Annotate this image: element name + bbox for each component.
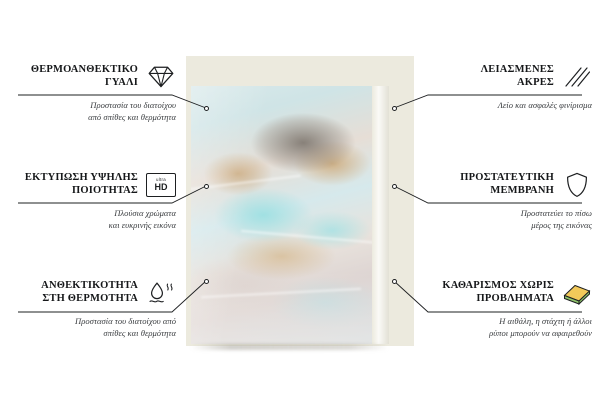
feature-heat-resistant-glass: ΘΕΡΜΟΑΝΘΕΚΤΙΚΟ ΓΥΑΛΙ Προστασία του διατο… <box>8 62 176 124</box>
feature-polished-edges: ΛΕΙΑΣΜΕΝΕΣ ΑΚΡΕΣ Λείο και ασφαλές φινίρι… <box>424 62 592 111</box>
feature-desc-line1: Λείο και ασφαλές φινίρισμα <box>424 99 592 111</box>
feature-desc-line1: Προστασία του διατοίχου από <box>8 315 176 327</box>
connector-dot <box>392 279 397 284</box>
feature-title-line2: ΜΕΜΒΡΑΝΗ <box>460 185 554 198</box>
diagonal-lines-icon <box>562 62 592 92</box>
feature-desc-line1: Πλούσια χρώματα <box>8 207 176 219</box>
connector-dot <box>392 106 397 111</box>
feature-title-line2: ΑΚΡΕΣ <box>481 77 554 90</box>
feature-title-line1: ΠΡΟΣΤΑΤΕΥΤΙΚΗ <box>460 172 554 185</box>
connector-dot <box>204 106 209 111</box>
glass-edge <box>372 86 389 344</box>
feature-easy-cleaning: ΚΑΘΑΡΙΣΜΟΣ ΧΩΡΙΣ ΠΡΟΒΛΗΜΑΤΑ Η αιθάλη, η … <box>418 278 592 340</box>
feature-high-quality-print: ΕΚΤΥΠΩΣΗ ΥΨΗΛΗΣ ΠΟΙΟΤΗΤΑΣ ultra HD Πλούσ… <box>8 170 176 232</box>
connector-dot <box>204 279 209 284</box>
connector-dot <box>392 184 397 189</box>
feature-desc-line2: μέρος της εικόνας <box>424 219 592 231</box>
feature-title-line2: ΠΟΙΟΤΗΤΑΣ <box>25 185 138 198</box>
feature-title-line2: ΓΥΑΛΙ <box>31 77 138 90</box>
shield-icon <box>562 170 592 200</box>
feature-title-line2: ΠΡΟΒΛΗΜΑΤΑ <box>442 293 554 306</box>
feature-title-line1: ΑΝΘΕΚΤΙΚΟΤΗΤΑ <box>41 280 138 293</box>
feature-desc-line2: και ευκρινής εικόνα <box>8 219 176 231</box>
feature-protective-membrane: ΠΡΟΣΤΑΤΕΥΤΙΚΗ ΜΕΜΒΡΑΝΗ Προστατεύει το πί… <box>424 170 592 232</box>
diamond-icon <box>146 62 176 92</box>
droplet-heat-icon <box>146 278 176 308</box>
feature-desc-line1: Η αιθάλη, η στάχτη ή άλλοι <box>418 315 592 327</box>
feature-desc-line2: ρύποι μπορούν να αφαιρεθούν <box>418 327 592 339</box>
feature-title-line1: ΚΑΘΑΡΙΣΜΟΣ ΧΩΡΙΣ <box>442 280 554 293</box>
decorative-glass-panel <box>191 86 372 344</box>
feature-title-line1: ΕΚΤΥΠΩΣΗ ΥΨΗΛΗΣ <box>25 172 138 185</box>
feature-desc-line2: από σπίθες και θερμότητα <box>8 111 176 123</box>
connector-dot <box>204 184 209 189</box>
feature-desc-line1: Προστασία του διατοίχου <box>8 99 176 111</box>
product-shadow <box>191 344 389 350</box>
feature-title-line1: ΛΕΙΑΣΜΕΝΕΣ <box>481 64 554 77</box>
feature-desc-line2: σπίθες και θερμότητα <box>8 327 176 339</box>
feature-title-line2: ΣΤΗ ΘΕΡΜΟΤΗΤΑ <box>41 293 138 306</box>
ultra-hd-icon: ultra HD <box>146 170 176 200</box>
feature-heat-durability: ΑΝΘΕΚΤΙΚΟΤΗΤΑ ΣΤΗ ΘΕΡΜΟΤΗΤΑ Προστασία το… <box>8 278 176 340</box>
sponge-icon <box>562 278 592 308</box>
product-image <box>186 56 414 346</box>
feature-title-line1: ΘΕΡΜΟΑΝΘΕΚΤΙΚΟ <box>31 64 138 77</box>
infographic-root: ΘΕΡΜΟΑΝΘΕΚΤΙΚΟ ΓΥΑΛΙ Προστασία του διατο… <box>0 0 600 400</box>
feature-desc-line1: Προστατεύει το πίσω <box>424 207 592 219</box>
